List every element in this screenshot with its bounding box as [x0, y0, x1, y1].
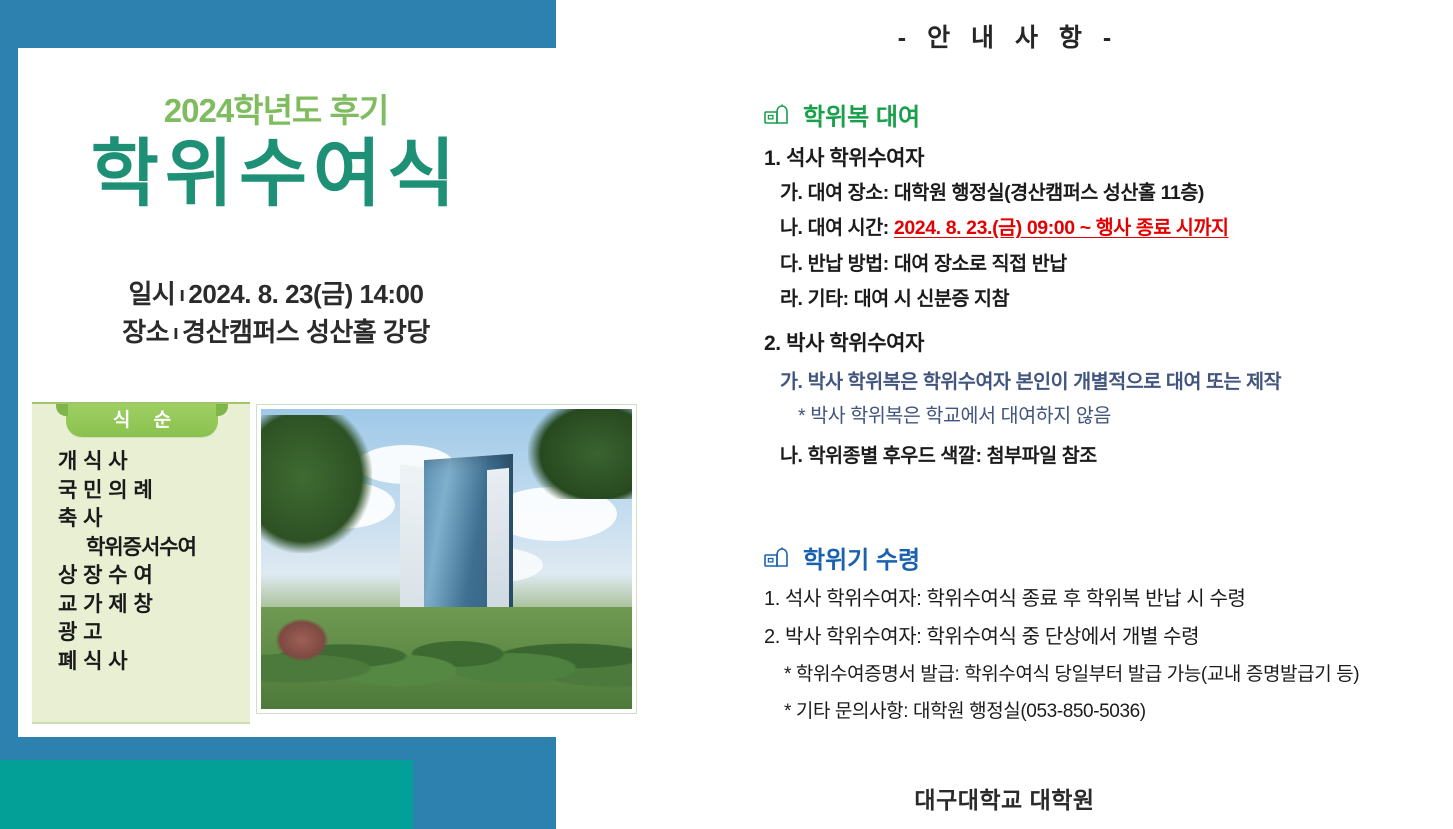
program-item-label: 축 사: [58, 505, 102, 534]
poster-venue-value: 경산캠퍼스 성산홀 강당: [182, 317, 430, 347]
diploma-masters-pickup: 1. 석사 학위수여자: 학위수여식 종료 후 학위복 반납 시 수령: [764, 585, 1453, 614]
program-item: 광 고: [32, 619, 250, 648]
poster-title: 학위수여식: [18, 133, 534, 216]
gown-masters-time-highlight: 2024. 8. 23.(금) 09:00 ~ 행사 종료 시까지: [894, 217, 1229, 239]
program-item-label: 국 민 의 례: [58, 477, 153, 506]
poster-datetime-value: 2024. 8. 23(금) 14:00: [188, 279, 423, 309]
poster-meta: 일시ı2024. 8. 23(금) 14:00 장소ı경산캠퍼스 성산홀 강당: [18, 275, 534, 352]
section-gown-rental: 학위복 대여 1. 석사 학위수여자 가. 대여 장소: 대학원 행정실(경산캠…: [764, 97, 1453, 470]
issuing-office-signature: 대구대학교 대학원: [556, 781, 1453, 815]
red-foliage-bush: [276, 619, 328, 661]
gown-masters-etc: 라. 기타: 대여 시 신분증 지참: [780, 285, 1453, 313]
gown-masters-heading-label: 1. 석사 학위수여자: [764, 147, 924, 170]
gown-masters-time-label: 나. 대여 시간:: [780, 217, 894, 239]
mailbox-icon: [764, 547, 790, 569]
campus-photo-frame: [256, 404, 637, 714]
program-item: 학위증서수여: [32, 534, 250, 563]
poster-bottom-composite: 식 순 개 식 사 국 민 의 례 축 사 학위증서수여 상 장 수 여 교 가…: [32, 392, 637, 720]
poster-datetime-separator: ı: [175, 284, 188, 306]
gown-masters-return: 다. 반납 방법: 대여 장소로 직접 반납: [780, 250, 1453, 278]
gown-doctoral-heading-label: 2. 박사 학위수여자: [764, 332, 924, 355]
gown-doctoral-hood-color: 나. 학위종별 후우드 색깔: 첨부파일 참조: [780, 442, 1453, 470]
program-heading: 식 순: [66, 404, 218, 437]
gown-masters-location: 가. 대여 장소: 대학원 행정실(경산캠퍼스 성산홀 11층): [780, 179, 1453, 207]
frame-blue-left-bar: [0, 0, 18, 761]
gown-doctoral-no-school-rental: * 박사 학위복은 학교에서 대여하지 않음: [798, 402, 1453, 430]
gown-masters-time: 나. 대여 시간: 2024. 8. 23.(금) 09:00 ~ 행사 종료 …: [780, 214, 1453, 242]
foreground-tree-left: [261, 415, 372, 553]
program-item: 폐 식 사: [32, 648, 250, 677]
program-item: 개 식 사: [32, 448, 250, 477]
program-item-label: 학위증서수여: [86, 534, 196, 563]
program-item: 국 민 의 례: [32, 477, 250, 506]
gown-doctoral-heading: 2. 박사 학위수여자: [764, 327, 1453, 357]
section-diploma-pickup-title: 학위기 수령: [764, 540, 1453, 575]
poster-datetime-label: 일시: [129, 279, 176, 309]
program-item-label: 개 식 사: [58, 448, 128, 477]
frame-blue-top-bar: [0, 0, 556, 48]
campus-photo: [261, 409, 632, 709]
gown-doctoral-self-rent: 가. 박사 학위복은 학위수여자 본인이 개별적으로 대여 또는 제작: [780, 368, 1453, 396]
section-diploma-pickup-label: 학위기 수령: [803, 540, 920, 575]
poster-venue-separator: ı: [169, 322, 182, 344]
diploma-doctoral-pickup: 2. 박사 학위수여자: 학위수여식 중 단상에서 개별 수령: [764, 623, 1453, 652]
poster-subtitle: 2024학년도 후기: [18, 84, 534, 132]
poster-venue-label: 장소: [122, 317, 169, 347]
info-panel: - 안 내 사 항 - 학위복 대여 1. 석사 학위수여자 가. 대여 장소:…: [556, 0, 1453, 829]
poster-datetime-row: 일시ı2024. 8. 23(금) 14:00: [18, 275, 534, 313]
program-item: 축 사: [32, 505, 250, 534]
info-header-title: - 안 내 사 항 -: [556, 18, 1453, 54]
program-item-label: 교 가 제 창: [58, 591, 153, 620]
program-item-label: 상 장 수 여: [58, 562, 153, 591]
foreground-tree-right: [528, 409, 632, 499]
section-gown-rental-title: 학위복 대여: [764, 97, 1453, 132]
program-list: 개 식 사 국 민 의 례 축 사 학위증서수여 상 장 수 여 교 가 제 창…: [32, 448, 250, 676]
section-diploma-pickup: 학위기 수령 1. 석사 학위수여자: 학위수여식 종료 후 학위복 반납 시 …: [764, 540, 1453, 725]
diploma-contact-note: * 기타 문의사항: 대학원 행정실(053-850-5036): [784, 698, 1453, 726]
program-item-label: 광 고: [58, 619, 102, 648]
section-gown-rental-label: 학위복 대여: [803, 97, 920, 132]
program-item: 교 가 제 창: [32, 591, 250, 620]
poster-venue-row: 장소ı경산캠퍼스 성산홀 강당: [18, 313, 534, 351]
program-box: 식 순 개 식 사 국 민 의 례 축 사 학위증서수여 상 장 수 여 교 가…: [32, 402, 250, 724]
frame-teal-block: [0, 760, 413, 829]
mailbox-icon: [764, 104, 790, 126]
issuing-office-label: 대구대학교 대학원: [914, 787, 1094, 813]
diploma-certificate-note: * 학위수여증명서 발급: 학위수여식 당일부터 발급 가능(교내 증명발급기 …: [784, 661, 1453, 689]
program-item: 상 장 수 여: [32, 562, 250, 591]
program-item-label: 폐 식 사: [58, 648, 128, 677]
gown-masters-heading: 1. 석사 학위수여자: [764, 142, 1453, 172]
